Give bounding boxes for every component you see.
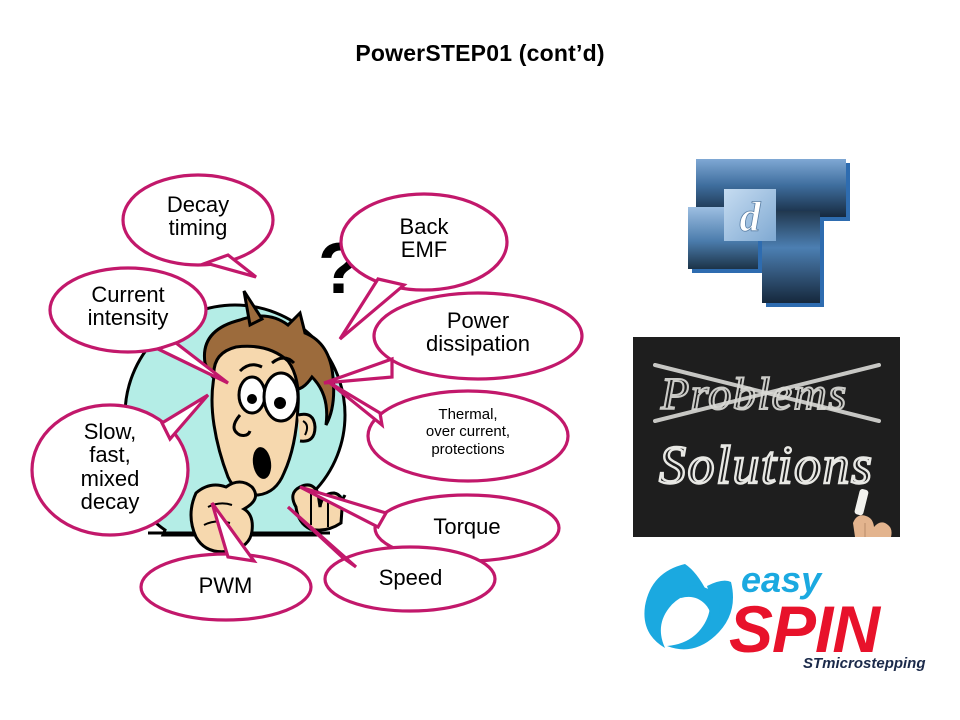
problems-solutions-blackboard: Problems Solutions [633,337,900,537]
character-eye-right [264,373,298,421]
blackboard-word: Solutions [659,435,874,495]
t-logo: d [682,145,872,310]
character-pupil-left [247,394,257,404]
easyspin-logo: easy SPIN STmicrostepping [635,552,933,672]
bubble-thermal-protections [330,383,568,481]
diagram-canvas: ? [0,95,620,655]
right-column: d Problems Solutions easy [620,0,960,720]
t-logo-letter: d [740,195,762,241]
concerns-diagram: ? [0,95,620,655]
character-pupil-right [274,397,286,409]
easyspin-swirl-icon [644,564,733,649]
bubble-decay-timing [123,175,273,277]
easyspin-tagline: STmicrostepping [803,655,926,672]
